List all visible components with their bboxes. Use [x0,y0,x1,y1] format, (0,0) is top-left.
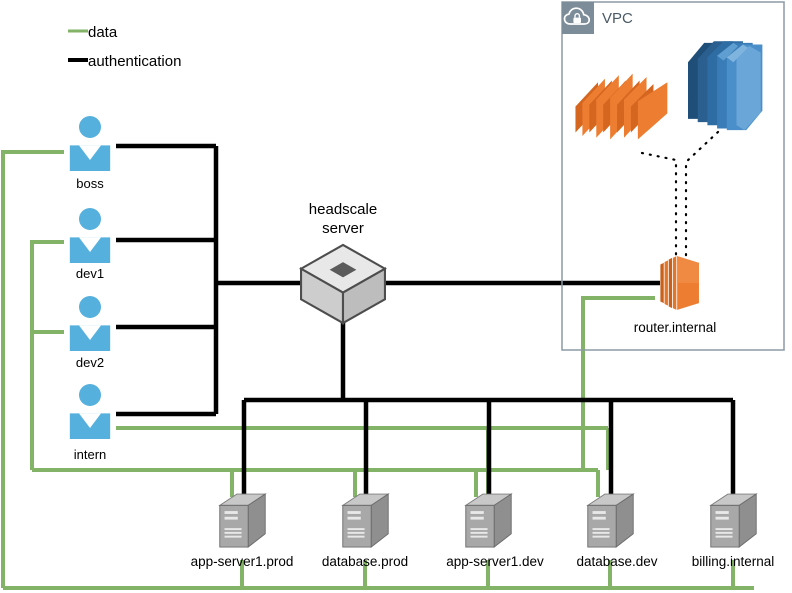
server-database-dev[interactable]: database.dev [576,494,657,569]
legend-data-label: data [88,24,118,41]
aws-router-icon[interactable] [660,256,699,310]
server-billing-internal-label: billing.internal [692,554,775,569]
network-diagram: data authentication [0,0,792,593]
legend-authentication-label: authentication [88,53,181,70]
server-billing-internal[interactable]: billing.internal [692,494,775,569]
actor-intern[interactable]: intern [70,384,110,462]
actor-dev2[interactable]: dev2 [70,296,110,370]
server-database-prod[interactable]: database.prod [322,494,408,569]
user-icon[interactable] [70,208,110,263]
headscale-label-line2: server [322,220,364,237]
actor-boss[interactable]: boss [70,116,110,191]
legend-item-authentication: authentication [68,53,181,70]
actor-dev1[interactable]: dev1 [70,208,110,281]
user-icon[interactable] [70,116,110,171]
diagram-canvas: data authentication [0,0,792,593]
actor-dev1-label: dev1 [76,266,104,281]
vpc-label: VPC [602,10,633,27]
vpc-dotted-links [642,132,718,258]
server-tower-icon[interactable] [588,494,633,547]
server-database-dev-label: database.dev [576,554,657,569]
server-app-server1-prod-label: app-server1.prod [191,554,294,569]
server-tower-icon[interactable] [220,494,265,547]
user-icon[interactable] [70,384,110,439]
data-link-dev1 [32,242,64,470]
headscale-server[interactable]: headscale server [301,201,385,323]
router-internal-label: router.internal [634,320,717,335]
ec2-instances-stack-orange-icon[interactable] [575,74,667,140]
actor-dev2-label: dev2 [76,355,104,370]
server-database-prod-label: database.prod [322,554,408,569]
legend-item-data: data [68,24,118,41]
actor-boss-label: boss [76,176,104,191]
server-app-server1-dev-label: app-server1.dev [446,554,544,569]
data-links [3,152,792,588]
user-icon[interactable] [70,296,110,351]
legend: data authentication [68,24,181,70]
server-tower-icon[interactable] [466,494,511,547]
server-app-server1-prod[interactable]: app-server1.prod [191,494,294,569]
dotted-link-blue-to-router [686,132,718,258]
cube-server-icon[interactable] [301,245,385,323]
server-tower-icon[interactable] [343,494,388,547]
ec2-instances-stack-blue-icon[interactable] [688,41,762,130]
server-app-server1-dev[interactable]: app-server1.dev [446,494,544,569]
dotted-link-orange-to-router [642,153,676,258]
server-tower-icon[interactable] [711,494,756,547]
headscale-label-line1: headscale [309,201,377,218]
actor-intern-label: intern [74,447,107,462]
